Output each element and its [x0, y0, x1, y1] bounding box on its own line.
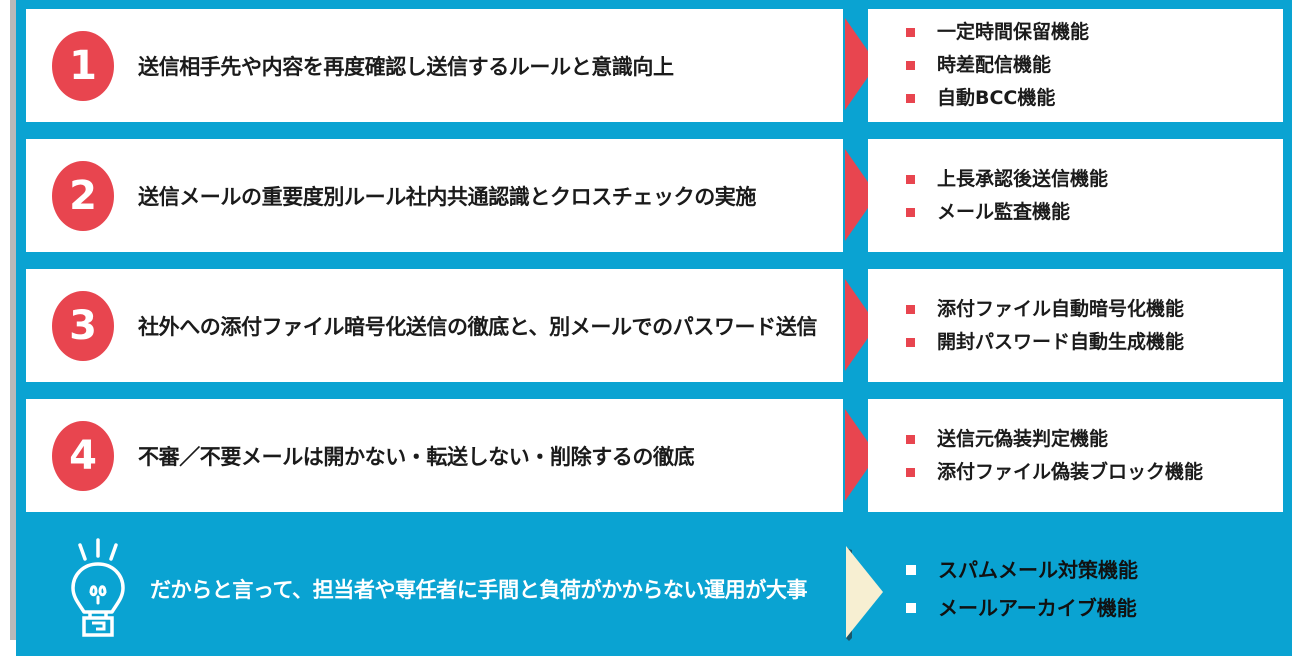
measure-text-2: 送信メールの重要度別ルール社内共通認識とクロスチェックの実施 — [138, 181, 756, 211]
bullet-square-icon — [906, 468, 915, 477]
list-item[interactable]: メール監査機能 — [906, 196, 1283, 229]
bullet-square-icon — [906, 565, 916, 575]
list-item[interactable]: 一定時間保留機能 — [906, 16, 1283, 49]
bullet-square-icon — [906, 338, 915, 347]
measure-panel-4[interactable]: 4 不審／不要メールは開かない・転送しない・削除するの徹底 — [26, 399, 843, 512]
list-item[interactable]: メールアーカイブ機能 — [906, 589, 1283, 627]
measure-text-3: 社外への添付ファイル暗号化送信の徹底と、別メールでのパスワード送信 — [138, 311, 817, 341]
feature-label: メールアーカイブ機能 — [938, 598, 1137, 618]
list-item[interactable]: 自動BCC機能 — [906, 82, 1283, 115]
bullet-square-icon — [906, 208, 915, 217]
list-item[interactable]: 送信元偽装判定機能 — [906, 423, 1283, 456]
bullet-square-icon — [906, 94, 915, 103]
feature-label: 添付ファイル自動暗号化機能 — [937, 300, 1184, 319]
lightbulb-icon — [64, 535, 132, 643]
list-item[interactable]: 時差配信機能 — [906, 49, 1283, 82]
measure-panel-2[interactable]: 2 送信メールの重要度別ルール社内共通認識とクロスチェックの実施 — [26, 139, 843, 252]
list-item[interactable]: 添付ファイル自動暗号化機能 — [906, 293, 1283, 326]
list-item[interactable]: 上長承認後送信機能 — [906, 163, 1283, 196]
step-number-2: 2 — [69, 176, 97, 216]
step-number-1: 1 — [69, 46, 97, 86]
diagram-canvas: 1 送信相手先や内容を再度確認し送信するルールと意識向上 一定時間保留機能 時差… — [0, 0, 1300, 656]
bullet-square-icon — [906, 28, 915, 37]
list-item[interactable]: 添付ファイル偽装ブロック機能 — [906, 456, 1283, 489]
feature-label: 自動BCC機能 — [937, 89, 1055, 108]
summary-text: だからと言って、担当者や専任者に手間と負荷がかからない運用が大事 — [150, 574, 807, 604]
feature-panel-4[interactable]: 送信元偽装判定機能 添付ファイル偽装ブロック機能 — [868, 399, 1283, 512]
bullet-square-icon — [906, 603, 916, 613]
summary-feature-list: スパムメール対策機能 メールアーカイブ機能 — [868, 551, 1283, 627]
feature-label: 開封パスワード自動生成機能 — [937, 333, 1184, 352]
list-item[interactable]: スパムメール対策機能 — [906, 551, 1283, 589]
feature-label: 添付ファイル偽装ブロック機能 — [937, 463, 1203, 482]
feature-list-1: 一定時間保留機能 時差配信機能 自動BCC機能 — [868, 16, 1283, 115]
feature-label: 時差配信機能 — [937, 56, 1051, 75]
list-item[interactable]: 開封パスワード自動生成機能 — [906, 326, 1283, 359]
feature-panel-1[interactable]: 一定時間保留機能 時差配信機能 自動BCC機能 — [868, 9, 1283, 122]
step-number-badge-3: 3 — [52, 291, 114, 361]
step-number-badge-2: 2 — [52, 161, 114, 231]
feature-panel-2[interactable]: 上長承認後送信機能 メール監査機能 — [868, 139, 1283, 252]
feature-label: 上長承認後送信機能 — [937, 170, 1108, 189]
step-number-badge-1: 1 — [52, 31, 114, 101]
measure-panel-1[interactable]: 1 送信相手先や内容を再度確認し送信するルールと意識向上 — [26, 9, 843, 122]
bullet-square-icon — [906, 435, 915, 444]
bullet-square-icon — [906, 175, 915, 184]
measure-text-4: 不審／不要メールは開かない・転送しない・削除するの徹底 — [138, 441, 694, 471]
bullet-square-icon — [906, 305, 915, 314]
step-number-4: 4 — [69, 436, 97, 476]
step-number-3: 3 — [69, 306, 97, 346]
measure-panel-3[interactable]: 3 社外への添付ファイル暗号化送信の徹底と、別メールでのパスワード送信 — [26, 269, 843, 382]
summary-right[interactable]: スパムメール対策機能 メールアーカイブ機能 — [868, 521, 1283, 656]
bullet-square-icon — [906, 61, 915, 70]
feature-list-4: 送信元偽装判定機能 添付ファイル偽装ブロック機能 — [868, 423, 1283, 489]
feature-panel-3[interactable]: 添付ファイル自動暗号化機能 開封パスワード自動生成機能 — [868, 269, 1283, 382]
feature-list-3: 添付ファイル自動暗号化機能 開封パスワード自動生成機能 — [868, 293, 1283, 359]
summary-left[interactable]: だからと言って、担当者や専任者に手間と負荷がかからない運用が大事 — [26, 521, 843, 656]
feature-label: 一定時間保留機能 — [937, 23, 1089, 42]
step-number-badge-4: 4 — [52, 421, 114, 491]
feature-label: 送信元偽装判定機能 — [937, 430, 1108, 449]
feature-label: スパムメール対策機能 — [938, 560, 1138, 580]
feature-label: メール監査機能 — [937, 203, 1070, 222]
feature-list-2: 上長承認後送信機能 メール監査機能 — [868, 163, 1283, 229]
measure-text-1: 送信相手先や内容を再度確認し送信するルールと意識向上 — [138, 51, 674, 81]
